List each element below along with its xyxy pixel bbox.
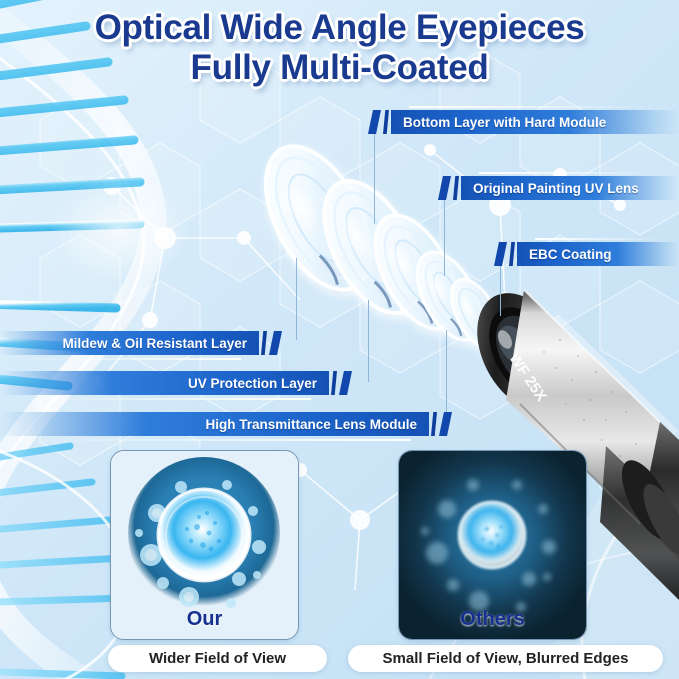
banner-accent-line bbox=[24, 439, 411, 441]
chevron-icon bbox=[339, 371, 352, 395]
callout-ebc-coating[interactable]: EBC Coating bbox=[494, 242, 679, 266]
chevron-icon bbox=[439, 412, 452, 436]
callout-mildew-oil-resistant-layer[interactable]: Mildew & Oil Resistant Layer bbox=[0, 331, 282, 355]
chevron-icon bbox=[438, 176, 451, 200]
leader-line-5 bbox=[368, 300, 369, 382]
callout-label: Bottom Layer with Hard Module bbox=[403, 115, 606, 130]
leader-line-2 bbox=[444, 198, 445, 276]
lens-element-stack bbox=[244, 129, 510, 356]
callout-label: UV Protection Layer bbox=[188, 376, 317, 391]
callout-label: EBC Coating bbox=[529, 247, 612, 262]
our-badge-label: Our bbox=[111, 608, 298, 631]
others-caption-text: Small Field of View, Blurred Edges bbox=[383, 650, 629, 667]
leader-line-6 bbox=[446, 330, 447, 422]
chevron-icon-secondary bbox=[383, 110, 389, 134]
banner-accent-line bbox=[479, 172, 659, 174]
banner-accent-line bbox=[535, 238, 659, 240]
leader-line-1 bbox=[374, 132, 375, 224]
page-title: Optical Wide Angle Eyepieces Fully Multi… bbox=[0, 8, 679, 88]
callout-bottom-layer-hard-module[interactable]: Bottom Layer with Hard Module bbox=[368, 110, 679, 134]
banner-accent-line bbox=[24, 358, 241, 360]
callout-label: High Transmittance Lens Module bbox=[205, 417, 417, 432]
chevron-icon-secondary bbox=[331, 371, 337, 395]
banner-accent-line bbox=[409, 106, 659, 108]
chevron-icon-secondary bbox=[261, 331, 267, 355]
barrel-marking-text: WF 25X bbox=[506, 350, 550, 404]
infographic-canvas: Optical Wide Angle Eyepieces Fully Multi… bbox=[0, 0, 679, 679]
comparison-box-our[interactable]: Our bbox=[110, 450, 299, 640]
our-caption-text: Wider Field of View bbox=[149, 650, 286, 667]
title-line-1: Optical Wide Angle Eyepieces bbox=[0, 8, 679, 48]
chevron-icon bbox=[269, 331, 282, 355]
comparison-box-others[interactable]: Others bbox=[398, 450, 587, 640]
our-caption: Wider Field of View bbox=[108, 645, 327, 672]
leader-line-4 bbox=[296, 258, 297, 340]
callout-high-transmittance-lens-module[interactable]: High Transmittance Lens Module bbox=[0, 412, 452, 436]
leader-line-3 bbox=[500, 264, 501, 316]
chevron-icon-secondary bbox=[509, 242, 515, 266]
chevron-icon-secondary bbox=[431, 412, 437, 436]
others-caption: Small Field of View, Blurred Edges bbox=[348, 645, 663, 672]
title-line-2: Fully Multi-Coated bbox=[0, 48, 679, 88]
chevron-icon-secondary bbox=[453, 176, 459, 200]
chevron-icon bbox=[368, 110, 381, 134]
banner-accent-line bbox=[24, 398, 311, 400]
callout-label: Original Painting UV Lens bbox=[473, 181, 639, 196]
chevron-icon bbox=[494, 242, 507, 266]
others-badge-label: Others bbox=[399, 608, 586, 631]
callout-label: Mildew & Oil Resistant Layer bbox=[62, 336, 247, 351]
callout-original-painting-uv-lens[interactable]: Original Painting UV Lens bbox=[438, 176, 679, 200]
callout-uv-protection-layer[interactable]: UV Protection Layer bbox=[0, 371, 352, 395]
